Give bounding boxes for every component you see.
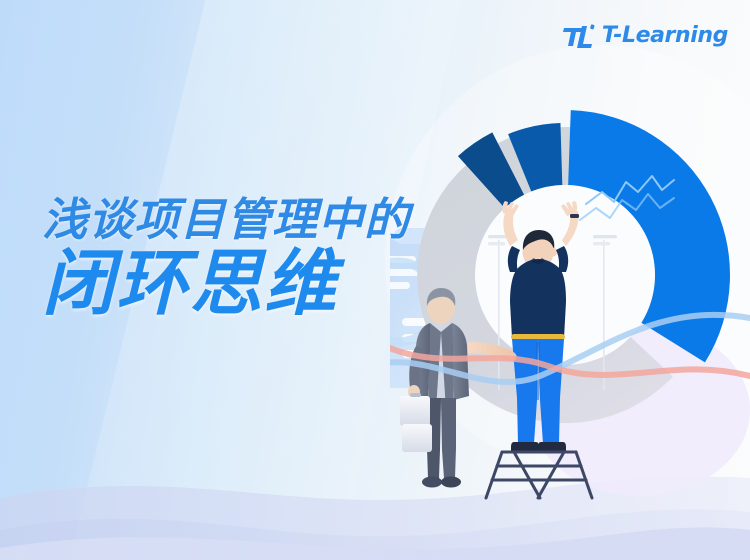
- illustration-svg: [390, 80, 750, 500]
- right-shoe: [538, 442, 566, 451]
- left-shoe: [422, 477, 442, 488]
- wristwatch: [570, 214, 579, 218]
- shirt: [510, 259, 566, 338]
- right-shoe: [441, 477, 461, 488]
- bottom-wave-3: [0, 527, 750, 560]
- headline-line-1: 浅谈项目管理中的: [42, 196, 410, 245]
- donut-chart-teamwork-illustration: [390, 80, 750, 500]
- bottom-wave-2: [0, 509, 750, 560]
- page-title: 浅谈项目管理中的 闭环思维: [42, 196, 410, 320]
- briefcase-bottom: [402, 424, 432, 452]
- left-shoe: [511, 442, 539, 451]
- headline-line-2: 闭环思维: [42, 247, 410, 320]
- poster-canvas: T-Learning 浅谈项目管理中的 闭环思维: [0, 0, 750, 560]
- brand-name: T-Learning: [602, 25, 728, 47]
- right-trouser: [441, 398, 456, 478]
- tl-monogram-icon: [562, 22, 596, 50]
- brand-logo[interactable]: T-Learning: [562, 22, 728, 50]
- briefcase-top: [400, 396, 430, 426]
